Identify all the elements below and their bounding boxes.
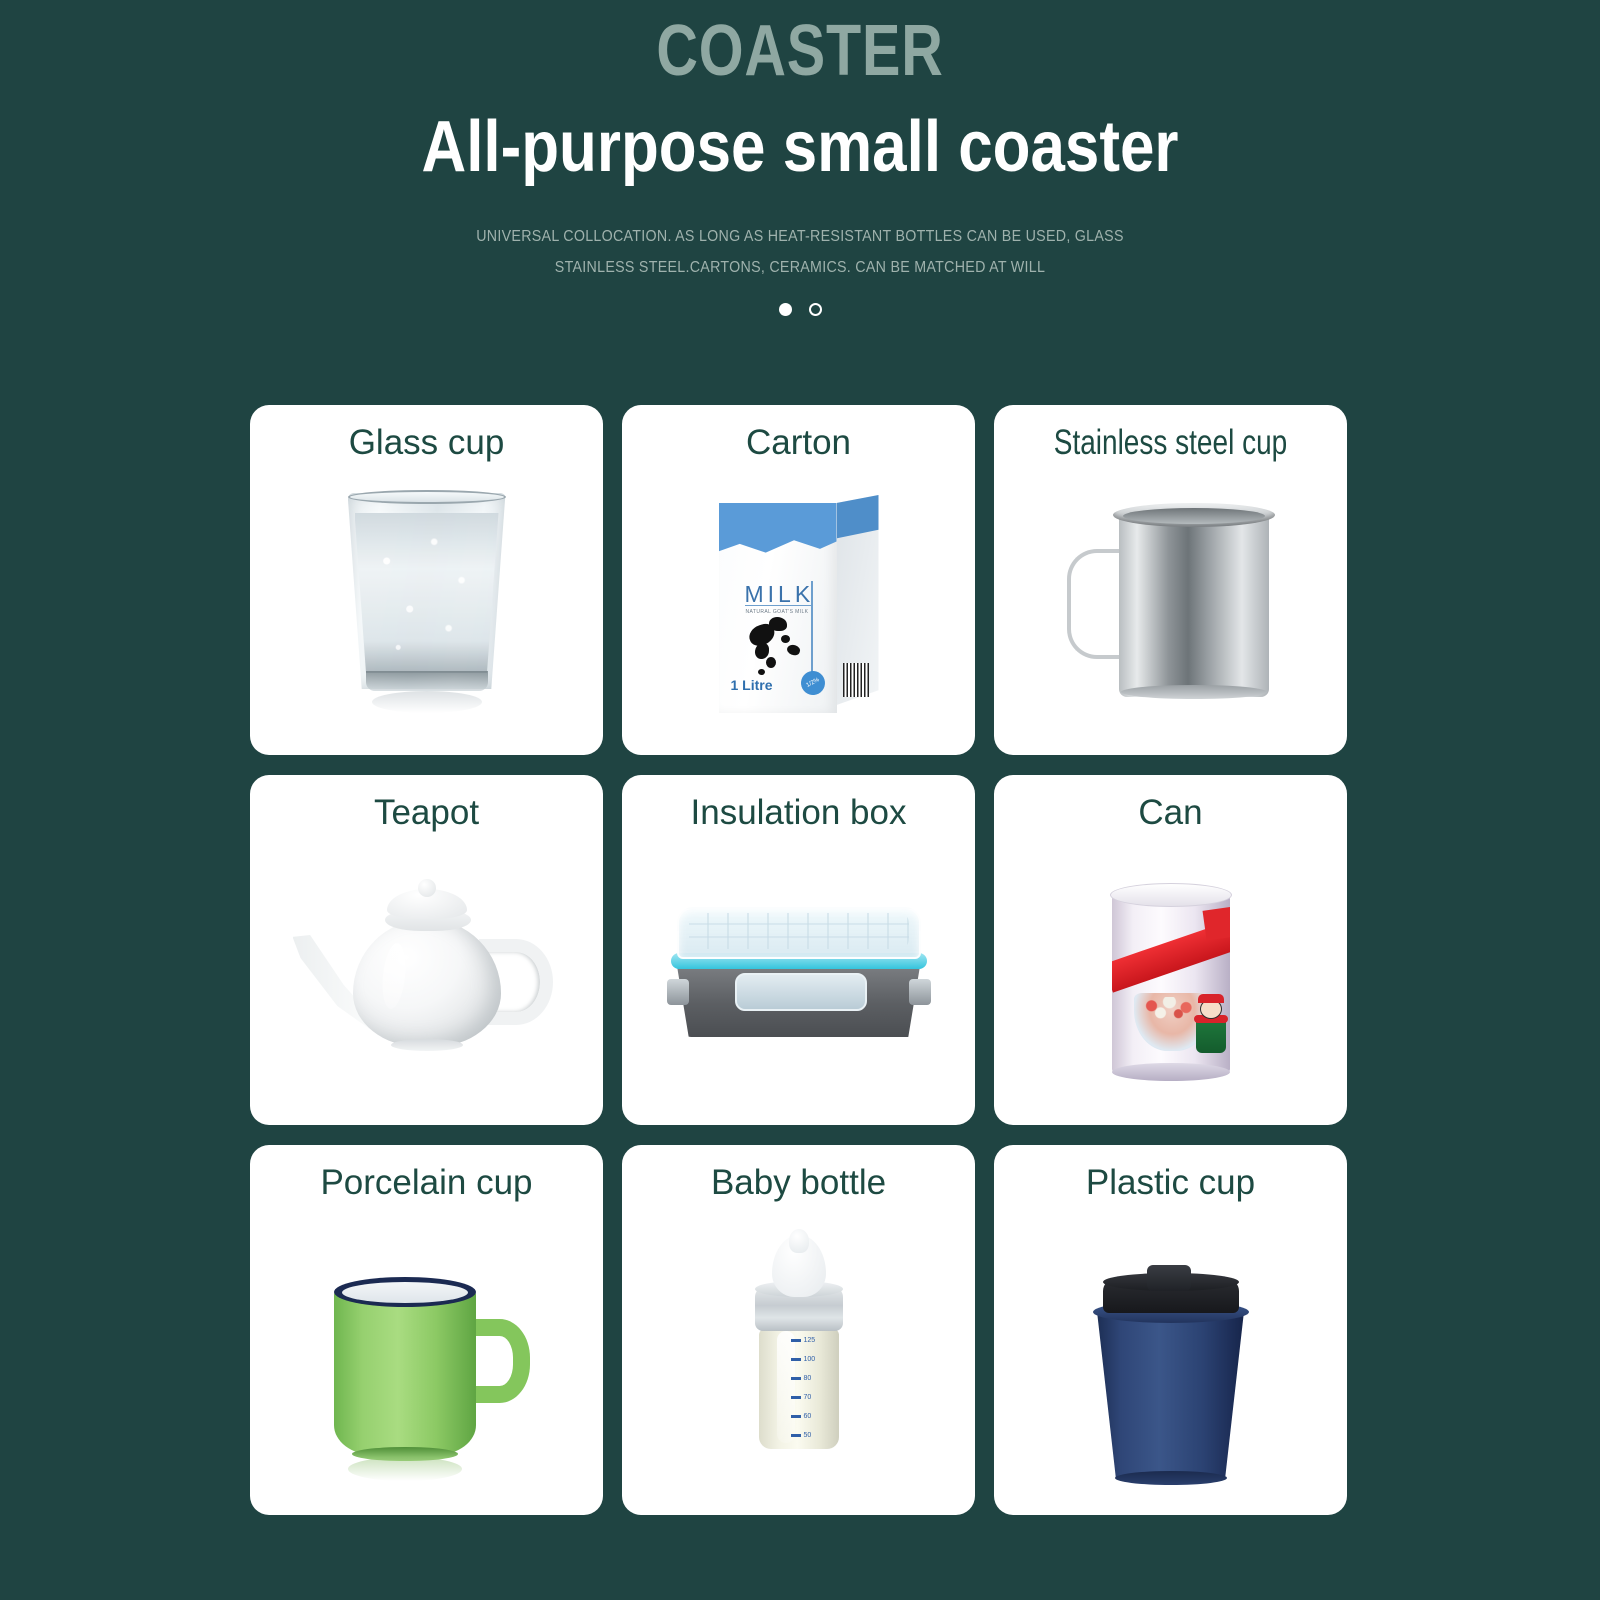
card-title-stainless-steel-cup: Stainless steel cup: [1029, 423, 1311, 463]
bottle-tick-label: 100: [804, 1356, 816, 1363]
product-compatibility-grid: Glass cup Carton MILK NATURAL GOAT': [250, 405, 1348, 1515]
card-porcelain-cup[interactable]: Porcelain cup: [250, 1145, 603, 1515]
baby-bottle-image: 12510080706050: [622, 1219, 975, 1505]
pagination-dot-2[interactable]: [809, 303, 822, 316]
card-title-glass-cup: Glass cup: [250, 423, 603, 463]
card-can[interactable]: Can: [994, 775, 1347, 1125]
pagination-dot-1[interactable]: [779, 303, 792, 316]
carton-tagline-text: NATURAL GOAT'S MILK: [746, 609, 809, 615]
hero-subcopy-line-1: UNIVERSAL COLLOCATION. AS LONG AS HEAT-R…: [64, 221, 1536, 252]
milk-carton-image: MILK NATURAL GOAT'S MILK 1/2% 1 Litre: [622, 479, 975, 745]
card-plastic-cup[interactable]: Plastic cup: [994, 1145, 1347, 1515]
carton-volume-text: 1 Litre: [731, 677, 773, 693]
card-title-can: Can: [994, 793, 1347, 833]
card-title-porcelain-cup: Porcelain cup: [250, 1163, 603, 1203]
can-image: [994, 849, 1347, 1115]
barcode-icon: [843, 663, 869, 697]
porcelain-cup-image: [250, 1219, 603, 1505]
plastic-cup-image: [994, 1219, 1347, 1505]
card-title-carton: Carton: [622, 423, 975, 463]
bottle-tick: [791, 1339, 801, 1342]
bottle-tick: [791, 1377, 801, 1380]
carton-brand-text: MILK: [745, 581, 815, 608]
carousel-pagination[interactable]: [0, 303, 1600, 316]
card-title-baby-bottle: Baby bottle: [622, 1163, 975, 1203]
bottle-tick: [791, 1415, 801, 1418]
bottle-tick-label: 125: [804, 1337, 816, 1344]
insulation-box-image: [622, 849, 975, 1115]
card-title-teapot: Teapot: [250, 793, 603, 833]
bottle-tick: [791, 1358, 801, 1361]
stainless-steel-cup-image: [994, 479, 1347, 745]
hero-subcopy-line-2: STAINLESS STEEL.CARTONS, CERAMICS. CAN B…: [64, 252, 1536, 283]
card-baby-bottle[interactable]: Baby bottle 12510080706050: [622, 1145, 975, 1515]
bottle-tick-label: 80: [804, 1375, 812, 1382]
card-carton[interactable]: Carton MILK NATURAL GOAT'S MILK 1/2% 1 L…: [622, 405, 975, 755]
card-stainless-steel-cup[interactable]: Stainless steel cup: [994, 405, 1347, 755]
card-title-insulation-box: Insulation box: [622, 793, 975, 833]
teapot-image: [250, 849, 603, 1115]
card-insulation-box[interactable]: Insulation box: [622, 775, 975, 1125]
bottle-tick: [791, 1434, 801, 1437]
bottle-tick-label: 60: [804, 1413, 812, 1420]
card-title-plastic-cup: Plastic cup: [994, 1163, 1347, 1203]
hero-subcopy: UNIVERSAL COLLOCATION. AS LONG AS HEAT-R…: [64, 221, 1536, 283]
glass-cup-image: [250, 479, 603, 745]
bottle-tick: [791, 1396, 801, 1399]
card-glass-cup[interactable]: Glass cup: [250, 405, 603, 755]
bottle-tick-label: 70: [804, 1394, 812, 1401]
eyebrow-title: COASTER: [160, 14, 1440, 90]
hero-section: COASTER All-purpose small coaster UNIVER…: [0, 0, 1600, 316]
page-title: All-purpose small coaster: [112, 108, 1488, 187]
card-teapot[interactable]: Teapot: [250, 775, 603, 1125]
bottle-measurement-scale: 12510080706050: [791, 1339, 827, 1443]
bottle-tick-label: 50: [804, 1432, 812, 1439]
